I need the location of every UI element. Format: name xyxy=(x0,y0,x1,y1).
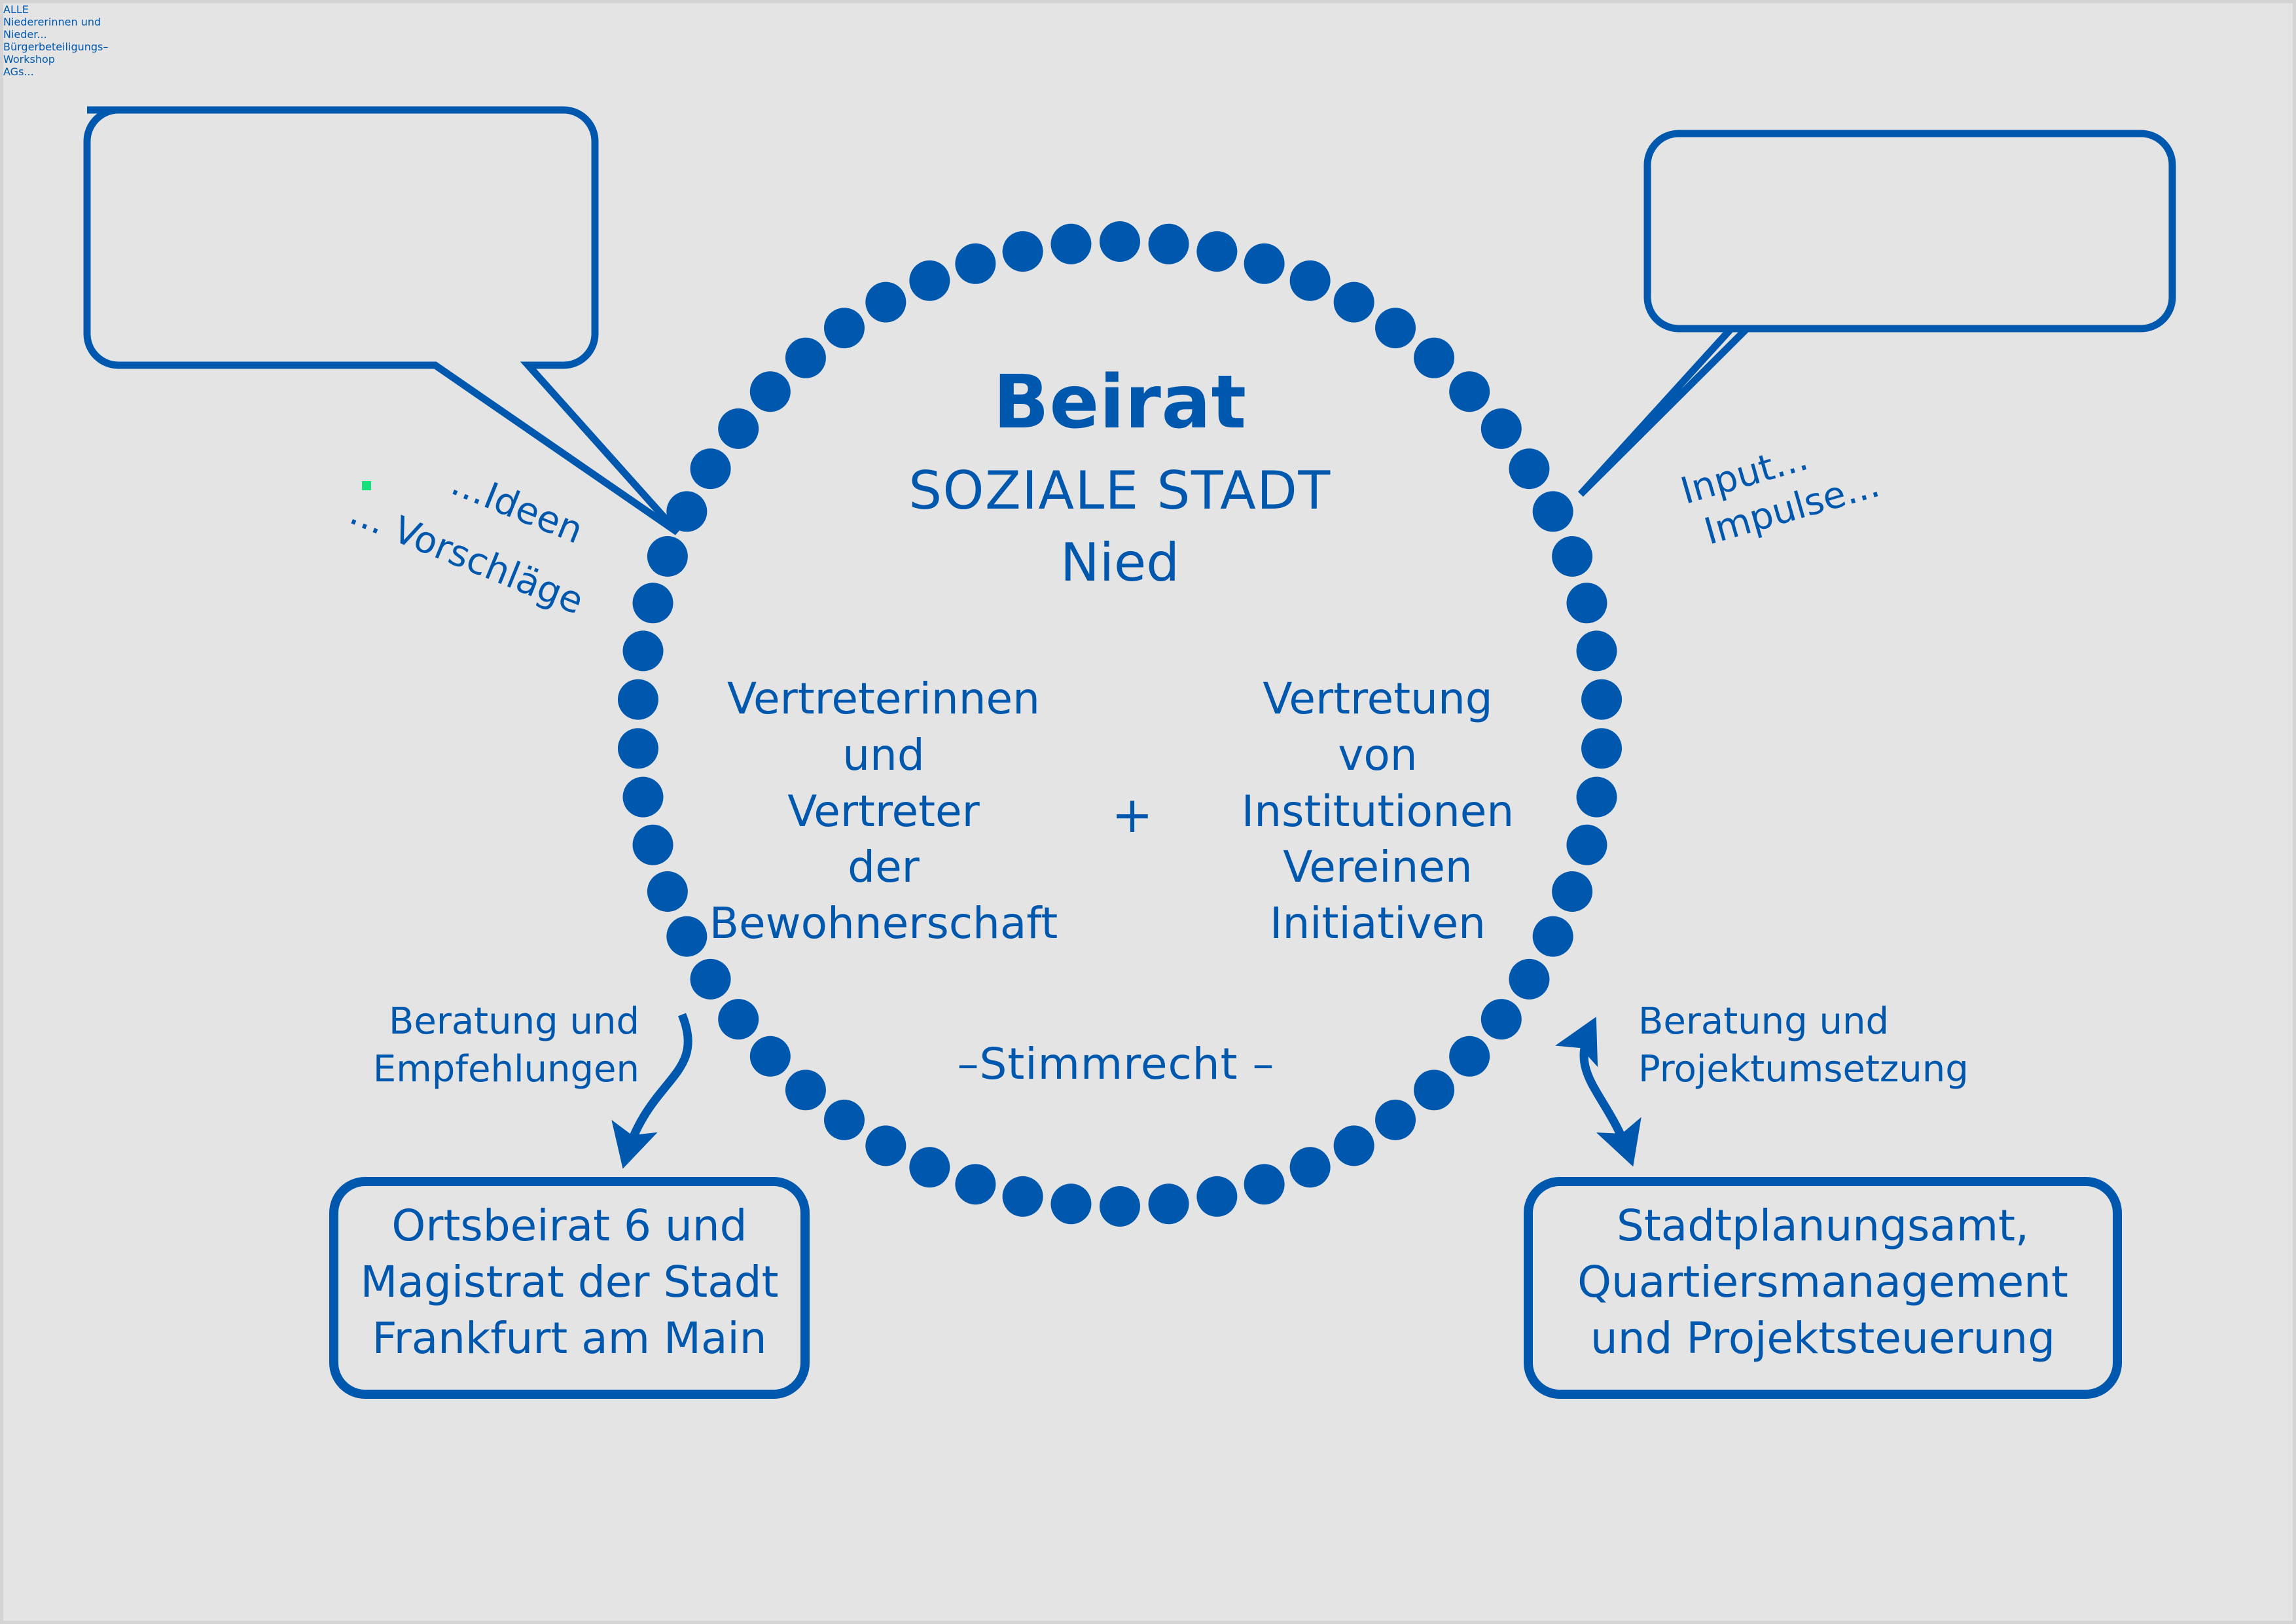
circle-dot xyxy=(1577,777,1617,818)
circle-dot xyxy=(1244,244,1285,284)
circle-dot xyxy=(824,1100,865,1140)
col-right-line-4: Vereinen xyxy=(1175,839,1581,895)
circle-dot xyxy=(1334,282,1374,323)
circle-dot xyxy=(865,282,906,323)
col-left-line-1: Vertreterinnen xyxy=(681,671,1086,727)
diagram-canvas: ALLE Niedererinnen und Nieder... Bürgerb… xyxy=(0,0,2296,1624)
circle-dot xyxy=(1244,1164,1285,1204)
circle-dot xyxy=(1050,1183,1091,1224)
box-bl-line-3: Frankfurt am Main xyxy=(334,1310,805,1367)
box-bl-line-2: Magistrat der Stadt xyxy=(334,1254,805,1310)
circle-dot xyxy=(1149,1183,1189,1224)
circle-dot xyxy=(1196,231,1237,272)
column-institutionen: Vertretung von Institutionen Vereinen In… xyxy=(1175,671,1581,952)
circle-dot xyxy=(865,1125,906,1166)
circle-dot xyxy=(1290,1147,1331,1187)
circle-dot xyxy=(691,448,731,489)
circle-dot xyxy=(1509,959,1549,1000)
circle-dot xyxy=(633,583,673,623)
circle-dot xyxy=(1050,224,1091,264)
label-beratung-projektumsetzung: Beratung und Projektumsetzung xyxy=(1638,998,1979,1094)
circle-dot xyxy=(1566,583,1607,623)
circle-dot xyxy=(1375,1100,1416,1140)
box-br-line-3: und Projektsteuerung xyxy=(1528,1310,2117,1367)
beratung-left-line-2: Empfehlungen xyxy=(345,1046,639,1094)
circle-dot xyxy=(623,630,664,671)
label-beratung-empfehlungen: Beratung und Empfehlungen xyxy=(345,998,639,1094)
circle-dot xyxy=(1581,728,1622,768)
circle-dot xyxy=(785,1070,826,1110)
box-bottom-left-text: Ortsbeirat 6 und Magistrat der Stadt Fra… xyxy=(334,1198,805,1366)
col-right-line-3: Institutionen xyxy=(1175,784,1581,840)
circle-dot xyxy=(1533,491,1573,532)
beratung-right-line-1: Beratung und xyxy=(1638,998,1979,1046)
circle-dot xyxy=(618,728,658,768)
circle-dot xyxy=(618,679,658,720)
col-right-line-2: von xyxy=(1175,727,1581,784)
circle-dot xyxy=(955,244,996,284)
circle-dot xyxy=(1509,448,1549,489)
circle-dot xyxy=(1196,1176,1237,1217)
plus-operator: + xyxy=(1086,785,1178,844)
box-bottom-right-text: Stadtplanungsamt, Quartiersmanagement un… xyxy=(1528,1198,2117,1366)
col-left-line-3: Vertreter xyxy=(681,784,1086,840)
center-locality: Nied xyxy=(747,532,1493,593)
circle-dot xyxy=(691,959,731,1000)
arrow-double-right xyxy=(1584,1024,1630,1159)
circle-dot xyxy=(1449,1036,1490,1077)
circle-dot xyxy=(647,536,688,577)
speech-bubble-top-left[interactable] xyxy=(87,110,677,532)
circle-dot xyxy=(1003,231,1043,272)
circle-dot xyxy=(955,1164,996,1204)
col-left-line-5: Bewohnerschaft xyxy=(681,895,1086,952)
circle-dot xyxy=(1149,224,1189,264)
beratung-right-line-2: Projektumsetzung xyxy=(1638,1046,1979,1094)
circle-dot xyxy=(1414,1070,1454,1110)
circle-dot xyxy=(1290,261,1331,301)
center-subtitle: SOZIALE STADT xyxy=(747,460,1493,521)
green-dot-marker xyxy=(362,481,371,490)
col-right-line-5: Initiativen xyxy=(1175,895,1581,952)
circle-dot xyxy=(909,1147,950,1187)
circle-dot xyxy=(1375,308,1416,348)
box-bl-line-1: Ortsbeirat 6 und xyxy=(334,1198,805,1254)
col-left-line-2: und xyxy=(681,727,1086,784)
stimmrecht-note: –Stimmrecht – xyxy=(887,1039,1345,1089)
circle-dot xyxy=(623,777,664,818)
circle-dot xyxy=(750,1036,791,1077)
col-left-line-4: der xyxy=(681,839,1086,895)
circle-dot xyxy=(1481,999,1522,1039)
circle-dot xyxy=(1003,1176,1043,1217)
box-br-line-2: Quartiersmanagement xyxy=(1528,1254,2117,1310)
speech-bubble-top-right[interactable] xyxy=(1581,134,2172,494)
circle-dot xyxy=(1100,221,1140,262)
beratung-left-line-1: Beratung und xyxy=(345,998,639,1046)
circle-dot xyxy=(909,261,950,301)
circle-dot xyxy=(1581,679,1622,720)
column-bewohnerschaft: Vertreterinnen und Vertreter der Bewohne… xyxy=(681,671,1086,952)
circle-dot xyxy=(1552,536,1592,577)
center-title: Beirat xyxy=(747,360,1493,445)
circle-dot xyxy=(1577,630,1617,671)
circle-dot xyxy=(824,308,865,348)
col-right-line-1: Vertretung xyxy=(1175,671,1581,727)
circle-dot xyxy=(1334,1125,1374,1166)
circle-dot xyxy=(633,825,673,865)
box-br-line-1: Stadtplanungsamt, xyxy=(1528,1198,2117,1254)
circle-dot xyxy=(718,999,759,1039)
circle-dot xyxy=(1100,1186,1140,1227)
